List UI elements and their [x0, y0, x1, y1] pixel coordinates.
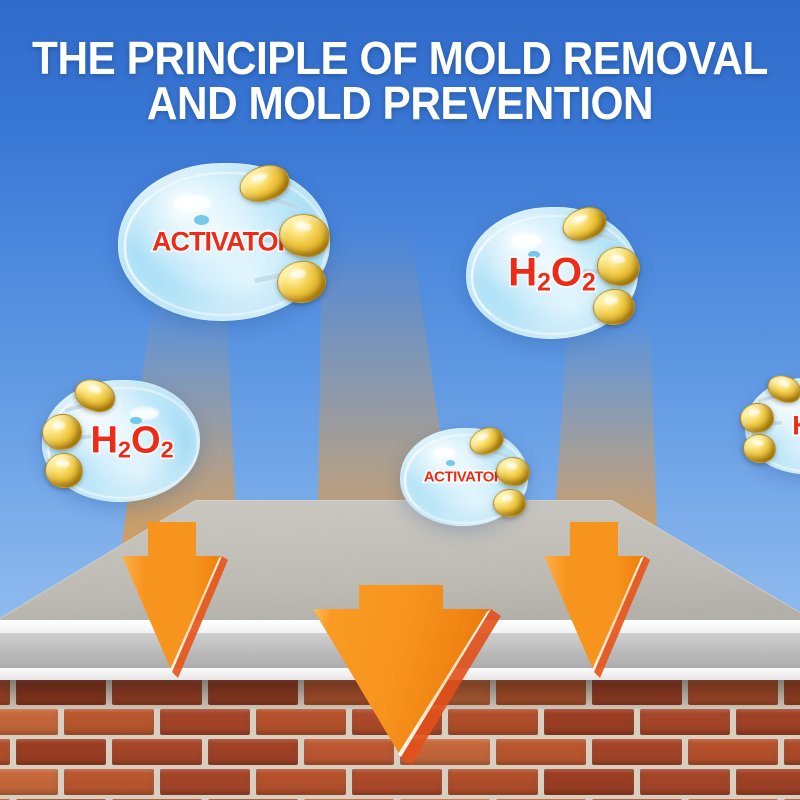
droplet-highlight — [173, 195, 211, 212]
formula-o: O — [551, 251, 582, 295]
droplet-highlight — [511, 233, 542, 248]
brick — [784, 679, 800, 705]
brick — [592, 679, 682, 705]
brick — [448, 709, 538, 735]
formula-h: H — [792, 411, 800, 441]
bubble-activator-top-left: ACTIVATOR — [118, 163, 330, 321]
brick — [544, 709, 634, 735]
brick — [448, 769, 538, 795]
brick — [640, 769, 730, 795]
brick — [688, 679, 778, 705]
brick — [352, 769, 442, 795]
title-line-2: AND MOLD PREVENTION — [32, 81, 768, 126]
page-title: THE PRINCIPLE OF MOLD REMOVAL AND MOLD P… — [0, 36, 800, 126]
bubble-h2o2-right-edge: H2O2 — [745, 378, 800, 474]
brick — [0, 679, 10, 705]
brick — [544, 769, 634, 795]
droplet-inner-dot — [194, 215, 209, 224]
brick — [160, 769, 250, 795]
brick — [496, 739, 586, 765]
brick — [16, 739, 106, 765]
brick — [304, 739, 394, 765]
brick — [304, 679, 394, 705]
brick — [736, 769, 800, 795]
brick-row — [0, 709, 800, 739]
formula-o: O — [131, 420, 161, 462]
brick-row — [0, 739, 800, 769]
formula-h: H — [90, 420, 117, 462]
brick — [400, 739, 490, 765]
brick — [208, 739, 298, 765]
brick — [736, 709, 800, 735]
brick — [64, 769, 154, 795]
white-coating-upper — [0, 620, 800, 633]
formula-sub2: 2 — [161, 437, 174, 463]
brick — [0, 709, 58, 735]
brick — [0, 739, 10, 765]
brick — [64, 709, 154, 735]
bubble-h2o2-left: H2O2 — [42, 380, 200, 502]
infographic-canvas: ACTIVATOR H2O2 H2O2 — [0, 0, 800, 800]
formula-h: H — [508, 251, 537, 295]
bubble-h2o2-top-right: H2O2 — [466, 207, 638, 339]
bubble-activator-center: ACTIVATOR — [400, 428, 528, 526]
brick-row — [0, 679, 800, 709]
brick — [592, 739, 682, 765]
title-line-1: THE PRINCIPLE OF MOLD REMOVAL — [32, 36, 768, 81]
brick-row — [0, 769, 800, 799]
formula-sub2: 2 — [582, 270, 596, 297]
brick — [352, 709, 442, 735]
brick — [208, 679, 298, 705]
brick — [0, 769, 58, 795]
brick — [160, 709, 250, 735]
brick — [256, 769, 346, 795]
brick — [16, 679, 106, 705]
brick — [256, 709, 346, 735]
brick — [688, 739, 778, 765]
formula-sub1: 2 — [118, 437, 131, 463]
brick-wall — [0, 679, 800, 800]
brick — [400, 679, 490, 705]
brick — [496, 679, 586, 705]
brick — [112, 679, 202, 705]
formula-sub1: 2 — [537, 270, 551, 297]
brick — [112, 739, 202, 765]
gray-substrate — [0, 633, 800, 668]
brick — [784, 739, 800, 765]
brick — [640, 709, 730, 735]
white-coating-lower — [0, 668, 800, 680]
